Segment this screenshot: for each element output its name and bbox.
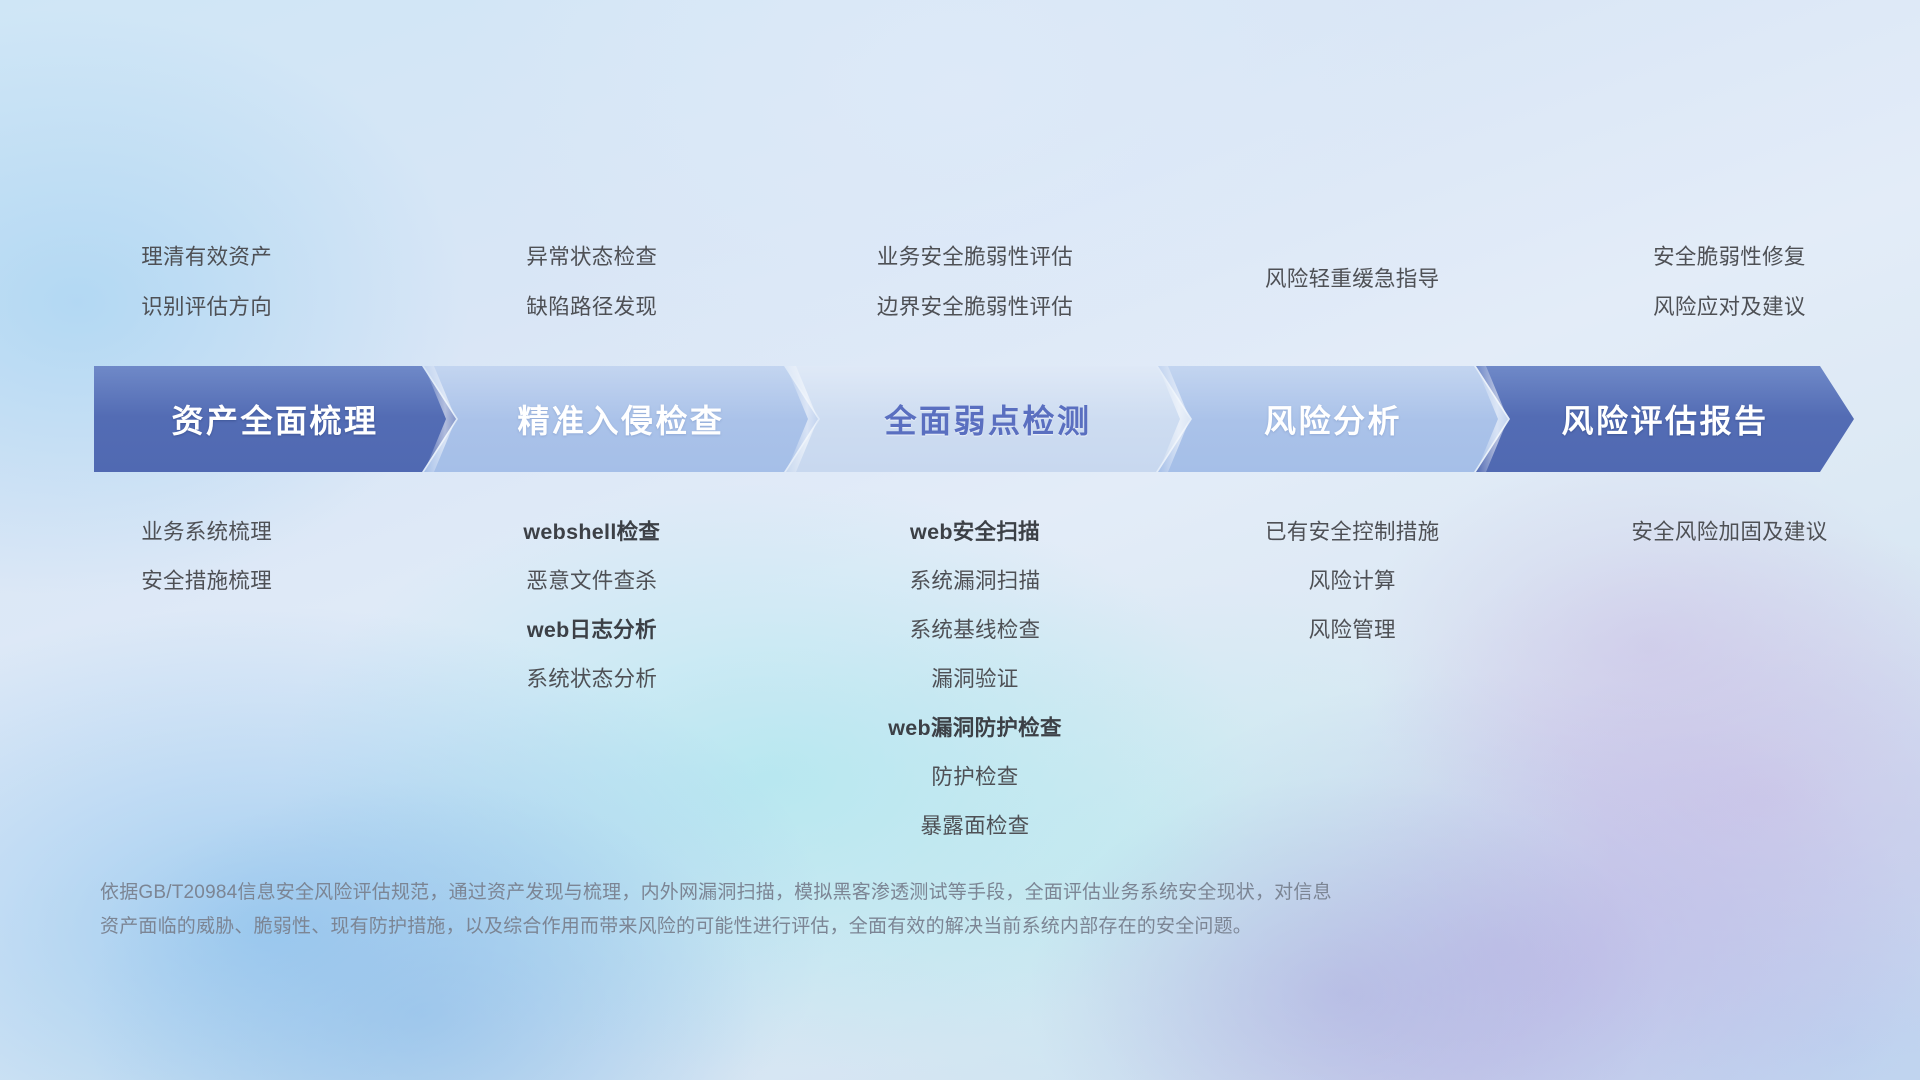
stage-chevron-2[interactable]: 精准入侵检查 [424,366,818,472]
top-note: 风险轻重缓急指导 [1265,254,1439,304]
stage-title: 全面弱点检测 [884,396,1091,442]
bottom-note: 风险管理 [1309,606,1396,655]
top-note: 理清有效资产 [141,232,272,282]
stage-chevron-1[interactable]: 资产全面梳理 [94,366,456,472]
top-note: 风险应对及建议 [1653,282,1806,332]
stage-chevron-5[interactable]: 风险评估报告 [1476,366,1854,472]
top-notes-stage-4: 风险轻重缓急指导 [1162,232,1543,332]
top-notes-row: 理清有效资产 识别评估方向 异常状态检查 缺陷路径发现 业务安全脆弱性评估 边界… [0,232,1920,332]
process-diagram: 理清有效资产 识别评估方向 异常状态检查 缺陷路径发现 业务安全脆弱性评估 边界… [0,0,1920,1080]
top-note: 业务安全脆弱性评估 [877,232,1073,282]
stage-chevron-4[interactable]: 风险分析 [1158,366,1508,472]
bottom-note: 安全风险加固及建议 [1631,508,1827,557]
stage-chevron-3[interactable]: 全面弱点检测 [786,366,1190,472]
bottom-note: 业务系统梳理 [141,508,272,557]
stage-title: 精准入侵检查 [517,396,724,442]
footer-line-2: 资产面临的威胁、脆弱性、现有防护措施，以及综合作用而带来风险的可能性进行评估，全… [100,910,1630,944]
top-notes-stage-1: 理清有效资产 识别评估方向 [16,232,397,332]
bottom-note: 防护检查 [931,753,1018,802]
bottom-notes-stage-4: 已有安全控制措施 风险计算 风险管理 [1162,508,1543,851]
bottom-note: web漏洞防护检查 [888,704,1062,753]
bottom-note: 系统状态分析 [526,655,657,704]
bottom-note: 系统基线检查 [910,606,1041,655]
top-notes-stage-5: 安全脆弱性修复 风险应对及建议 [1539,232,1920,332]
bottom-note: web安全扫描 [910,508,1040,557]
bottom-notes-row: 业务系统梳理 安全措施梳理 webshell检查 恶意文件查杀 web日志分析 … [0,508,1920,851]
bottom-notes-stage-3: web安全扫描 系统漏洞扫描 系统基线检查 漏洞验证 web漏洞防护检查 防护检… [784,508,1165,851]
stage-title: 风险分析 [1264,396,1402,442]
top-note: 识别评估方向 [141,282,272,332]
bottom-note: 风险计算 [1309,557,1396,606]
top-note: 安全脆弱性修复 [1653,232,1806,282]
bottom-note: 恶意文件查杀 [526,557,657,606]
bottom-note: 已有安全控制措施 [1265,508,1439,557]
top-note: 缺陷路径发现 [526,282,657,332]
bottom-note: webshell检查 [523,508,660,557]
footer-description: 依据GB/T20984信息安全风险评估规范，通过资产发现与梳理，内外网漏洞扫描，… [100,876,1630,944]
top-notes-stage-2: 异常状态检查 缺陷路径发现 [401,232,782,332]
top-note: 边界安全脆弱性评估 [877,282,1073,332]
top-note: 异常状态检查 [526,232,657,282]
bottom-note: web日志分析 [527,606,657,655]
bottom-notes-stage-1: 业务系统梳理 安全措施梳理 [16,508,397,851]
stage-chevron-band: 资产全面梳理 精准入侵检查 全面弱点检测 风险分析 风险评估报告 [94,366,1854,472]
stage-title: 资产全面梳理 [171,396,378,442]
bottom-note: 系统漏洞扫描 [910,557,1041,606]
bottom-note: 漏洞验证 [931,655,1018,704]
top-notes-stage-3: 业务安全脆弱性评估 边界安全脆弱性评估 [784,232,1165,332]
bottom-notes-stage-2: webshell检查 恶意文件查杀 web日志分析 系统状态分析 [401,508,782,851]
bottom-note: 安全措施梳理 [141,557,272,606]
stage-title: 风险评估报告 [1561,396,1768,442]
bottom-note: 暴露面检查 [921,802,1030,851]
bottom-notes-stage-5: 安全风险加固及建议 [1539,508,1920,851]
footer-line-1: 依据GB/T20984信息安全风险评估规范，通过资产发现与梳理，内外网漏洞扫描，… [100,876,1630,910]
